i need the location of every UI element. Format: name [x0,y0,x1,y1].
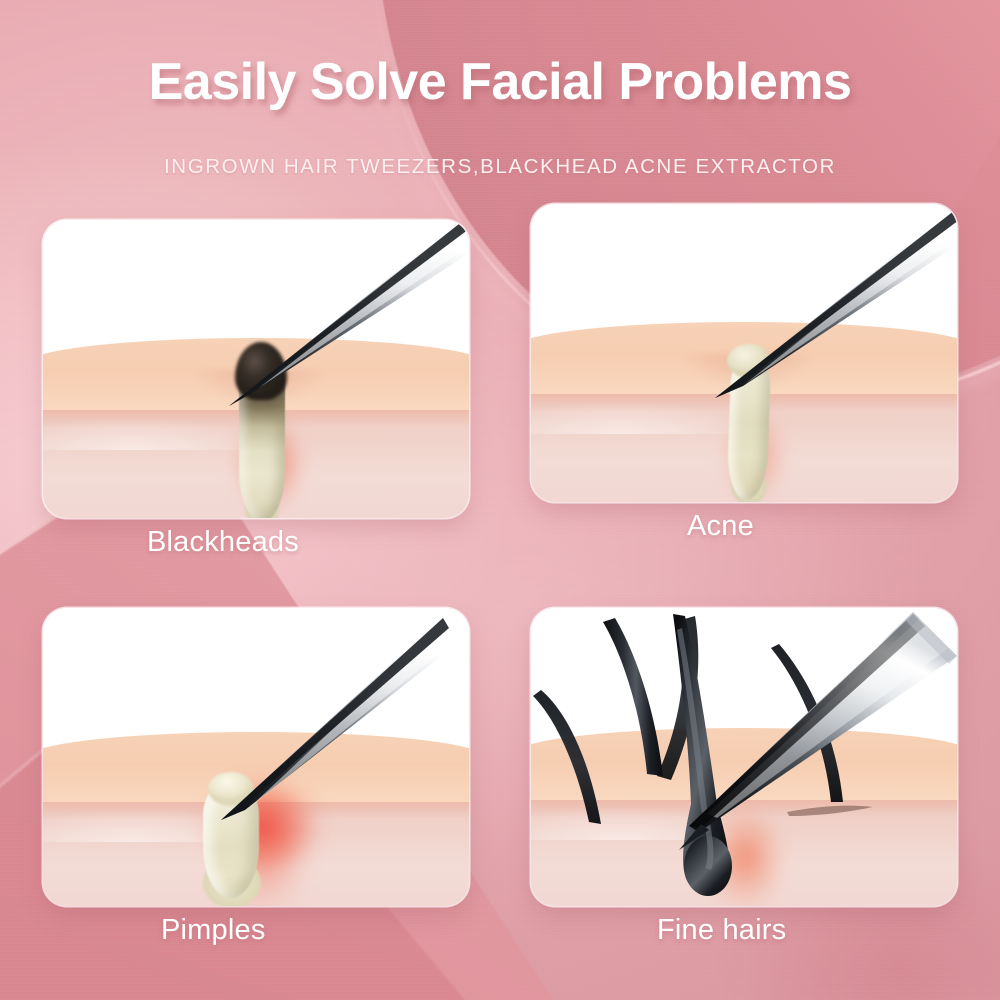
card-surface-acne [531,204,957,502]
card-surface-blackheads [43,220,469,518]
card-caption-fine-hairs: Fine hairs [531,914,957,947]
card-fine-hairs[interactable]: Fine hairs [531,608,957,906]
card-caption-acne: Acne [531,510,957,543]
card-caption-pimples: Pimples [43,914,469,947]
card-caption-blackheads: Blackheads [43,526,469,559]
illustration-pimples [43,608,469,906]
card-surface-fine-hairs [531,608,957,906]
needle-icon [43,220,469,518]
card-acne[interactable]: Acne [531,204,957,502]
problem-card-grid: Blackheads [0,0,1000,1000]
card-pimples[interactable]: Pimples [43,608,469,906]
card-blackheads[interactable]: Blackheads [43,220,469,518]
tweezer-tip-icon [531,608,957,906]
needle-icon [531,204,957,502]
illustration-fine-hairs [531,608,957,906]
illustration-acne [531,204,957,502]
illustration-blackheads [43,220,469,518]
needle-icon [43,608,469,906]
card-surface-pimples [43,608,469,906]
